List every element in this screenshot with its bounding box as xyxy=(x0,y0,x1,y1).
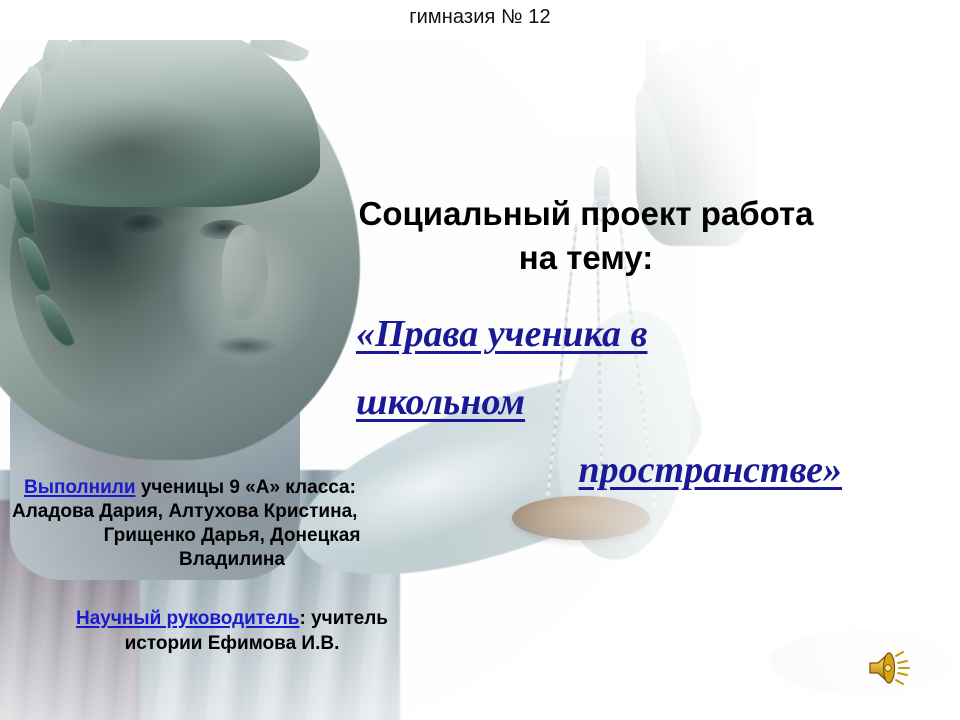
slide-text-layer: гимназия № 12 Социальный проект работа н… xyxy=(0,0,960,720)
authors-label: Выполнили xyxy=(24,477,136,498)
authors-label-rest: ученицы 9 «А» класса: xyxy=(136,477,356,498)
school-name-label: гимназия № 12 xyxy=(0,6,960,29)
topic-line-1: «Права ученика в xyxy=(330,300,842,368)
supervisor-line-2: истории Ефимова И.В. xyxy=(6,631,458,656)
authors-line-2: Аладова Дария, Алтухова Кристина, xyxy=(6,500,458,524)
project-heading: Социальный проект работа на тему: xyxy=(268,192,904,280)
supervisor-first-line: Научный руководитель: учитель xyxy=(6,606,458,631)
authors-block: Выполнили ученицы 9 «А» класса: Аладова … xyxy=(6,476,458,572)
project-heading-line-1: Социальный проект работа xyxy=(359,195,814,232)
supervisor-label: Научный руководитель xyxy=(76,608,299,629)
authors-line-4: Владилина xyxy=(6,548,458,572)
supervisor-label-rest: : учитель xyxy=(299,608,388,629)
project-heading-line-2: на тему: xyxy=(519,239,653,276)
speaker-sound-icon[interactable] xyxy=(866,648,912,688)
presentation-slide: гимназия № 12 Социальный проект работа н… xyxy=(0,0,960,720)
authors-first-line: Выполнили ученицы 9 «А» класса: xyxy=(6,476,458,500)
topic-line-2: школьном xyxy=(330,368,842,436)
speaker-sound-icon-glyph[interactable] xyxy=(866,648,912,688)
authors-line-3: Грищенко Дарья, Донецкая xyxy=(6,524,458,548)
supervisor-block: Научный руководитель: учитель истории Еф… xyxy=(6,606,458,656)
project-topic-title: «Права ученика в школьном пространстве» xyxy=(330,300,842,504)
